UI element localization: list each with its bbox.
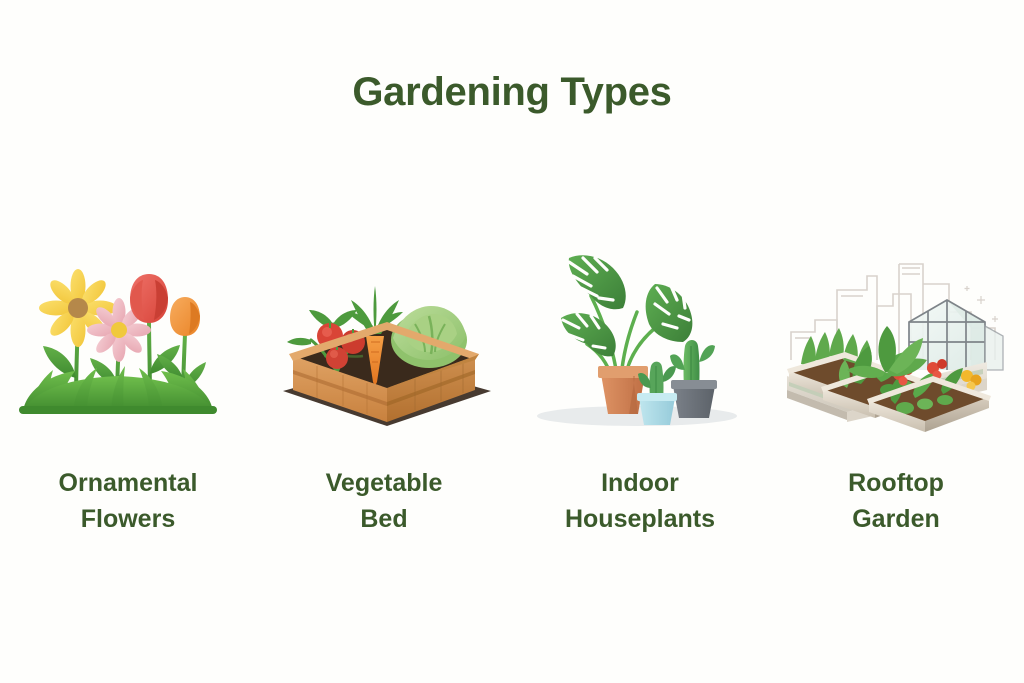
card-ornamental-flowers[interactable]: Ornamental Flowers (13, 250, 243, 538)
raised-bed-illustration (269, 250, 499, 435)
card-indoor-houseplants[interactable]: Indoor Houseplants (525, 250, 755, 538)
gardening-types-list: Ornamental Flowers (0, 250, 1024, 538)
page-title: Gardening Types (0, 70, 1024, 115)
red-tulip-flower (130, 274, 168, 323)
card-label-rooftop-garden: Rooftop Garden (848, 465, 944, 538)
card-label-ornamental-flowers: Ornamental Flowers (59, 465, 198, 538)
flowers-illustration (13, 250, 243, 435)
card-vegetable-bed[interactable]: Vegetable Bed (269, 250, 499, 538)
card-label-vegetable-bed: Vegetable Bed (326, 465, 443, 538)
houseplants-illustration (525, 250, 755, 435)
orange-tulip-flower (170, 297, 200, 336)
rooftop-garden-illustration (781, 250, 1011, 435)
infographic-page: Gardening Types (0, 0, 1024, 683)
card-label-indoor-houseplants: Indoor Houseplants (565, 465, 715, 538)
card-rooftop-garden[interactable]: Rooftop Garden (781, 250, 1011, 538)
